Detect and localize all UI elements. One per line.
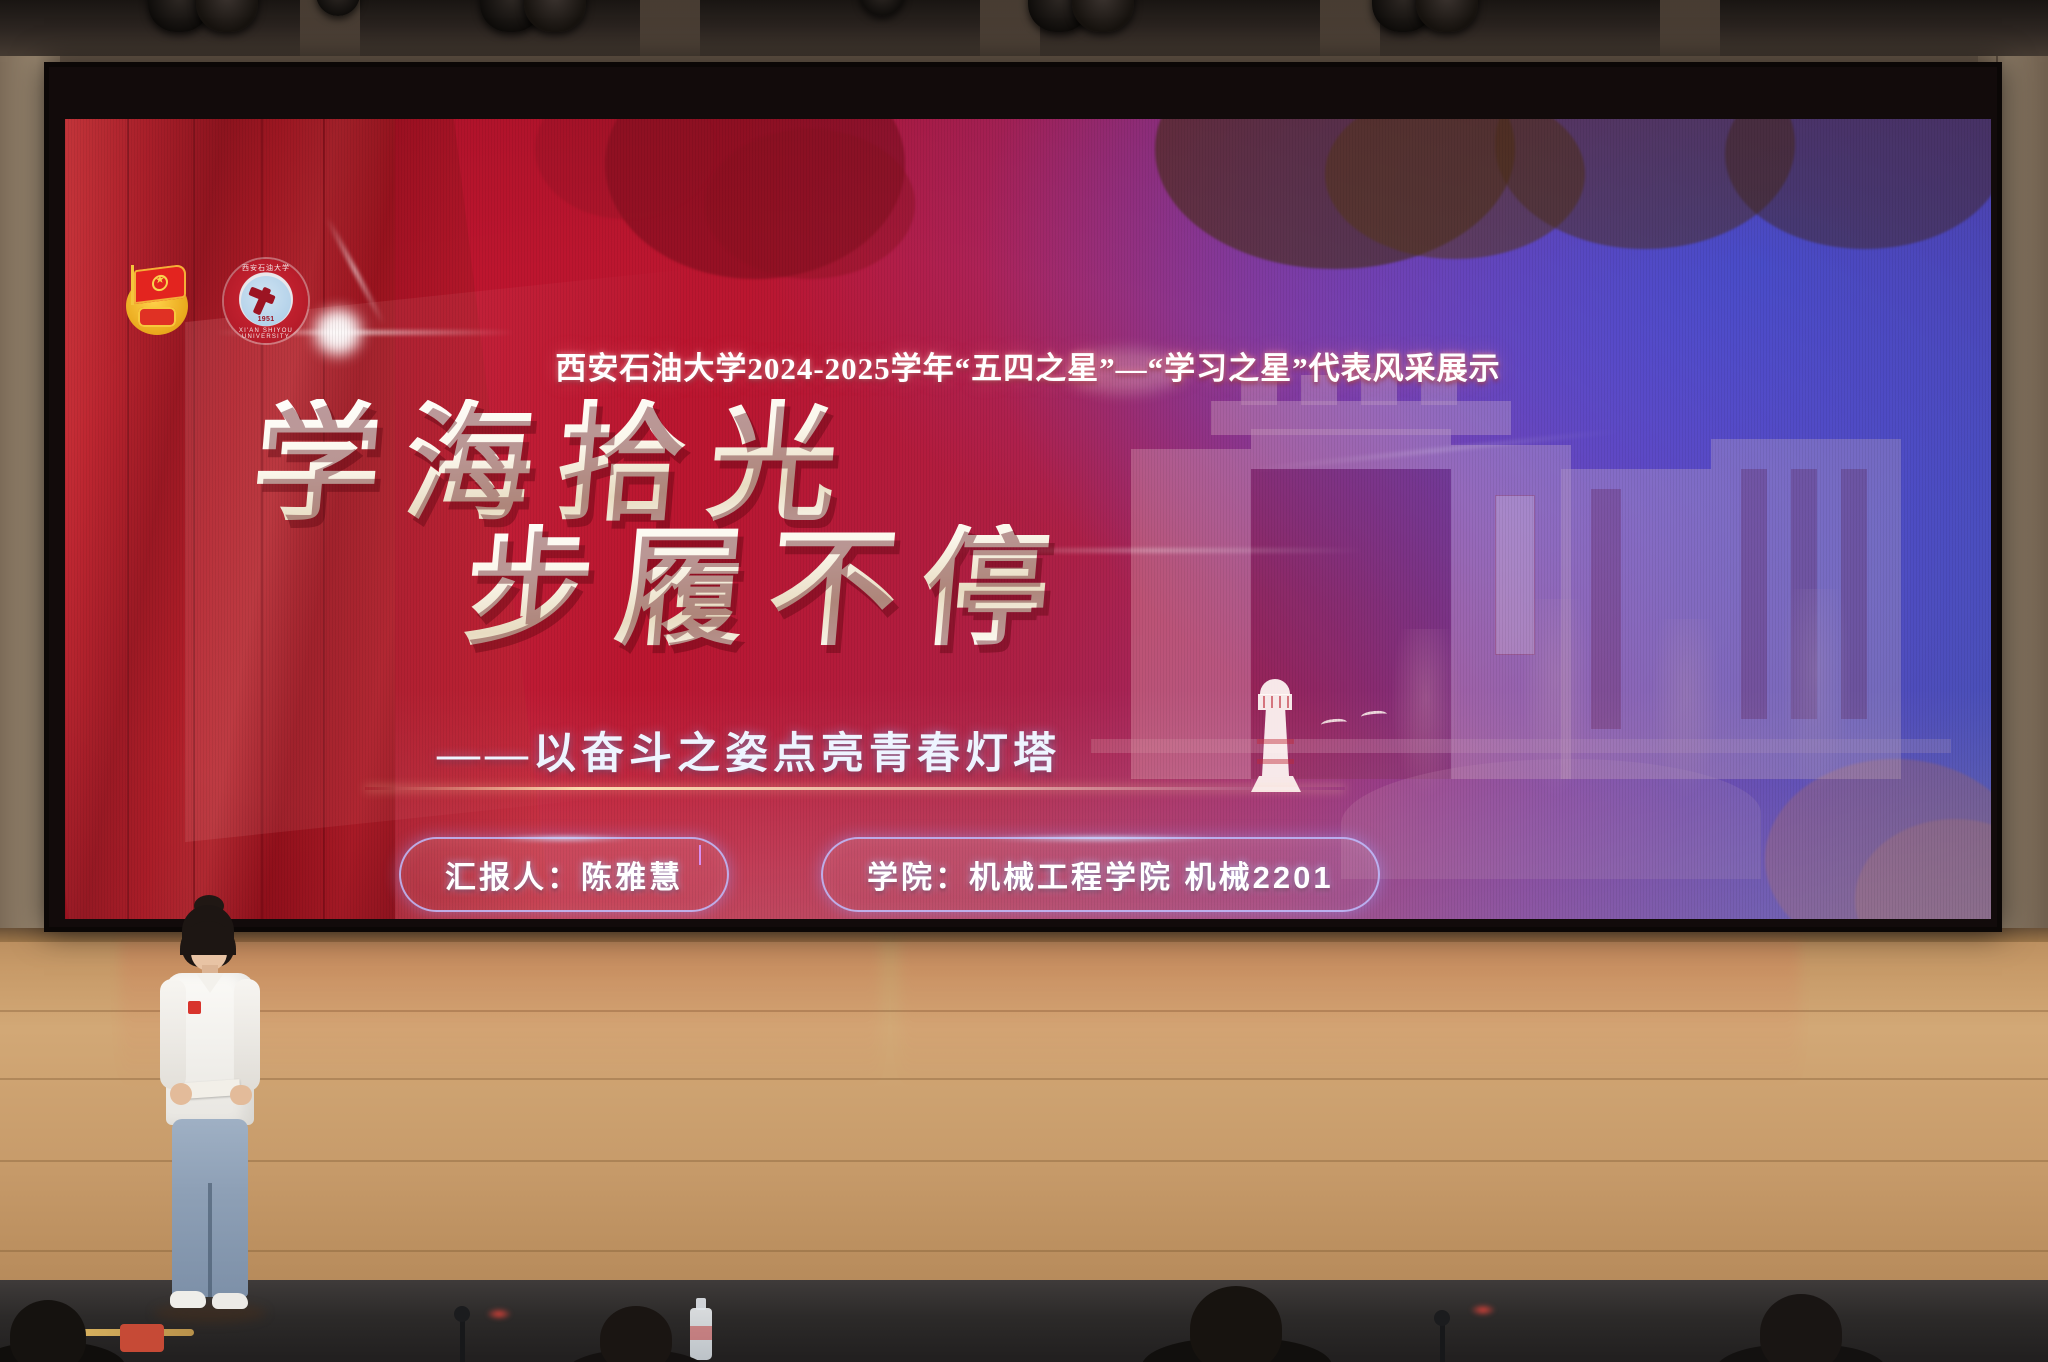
presenter-pill-label: 汇报人：陈雅慧 — [445, 860, 683, 895]
ceiling-beam — [1320, 0, 1380, 62]
communist-youth-league-emblem — [120, 263, 196, 339]
led-screen: 西安石油大学 1951 XI'AN SHIYOU UNIVERSITY 西安石油… — [65, 119, 1991, 919]
water-bottle — [690, 1308, 712, 1360]
mic-head-icon — [1434, 1310, 1450, 1326]
pill-highlight-tick — [699, 845, 701, 865]
auditorium-scene: 西安石油大学 1951 XI'AN SHIYOU UNIVERSITY 西安石油… — [0, 0, 2048, 1362]
hero-line-2: 步履不停 — [65, 524, 1271, 655]
hero-line-1: 学海拾光 — [65, 399, 1271, 530]
stage-light-marker — [1470, 1304, 1496, 1316]
seal-mark-icon — [249, 285, 283, 317]
seal-en-text: XI'AN SHIYOU UNIVERSITY — [224, 328, 308, 340]
stage-light-marker — [486, 1308, 512, 1320]
mic-stand — [1440, 1322, 1445, 1362]
audience-head-4 — [1760, 1294, 1842, 1362]
floor-equipment — [120, 1324, 164, 1352]
seal-cn-text: 西安石油大学 — [224, 263, 308, 273]
presenter-pill[interactable]: 汇报人：陈雅慧 — [399, 837, 729, 912]
presenter-jeans — [172, 1119, 248, 1297]
college-pill[interactable]: 学院：机械工程学院 机械2201 — [821, 837, 1380, 912]
audience-head-3 — [1190, 1286, 1282, 1362]
mic-stand — [460, 1318, 465, 1362]
ceiling-beam — [640, 0, 700, 62]
slide-header-title: 西安石油大学2024-2025学年“五四之星”—“学习之星”代表风采展示 — [65, 343, 1991, 388]
audience-head-1 — [10, 1300, 86, 1362]
slide-subtitle: ——以奋斗之姿点亮青春灯塔 — [65, 719, 1061, 781]
presenter-badge — [188, 1001, 201, 1014]
hero-title: 学海拾光 步履不停 — [65, 399, 1265, 654]
ceiling-beam — [1660, 0, 1720, 62]
xian-shiyou-university-seal: 西安石油大学 1951 XI'AN SHIYOU UNIVERSITY — [224, 259, 308, 343]
emblem-row: 西安石油大学 1951 XI'AN SHIYOU UNIVERSITY — [120, 259, 308, 343]
info-pill-row: 汇报人：陈雅慧 学院：机械工程学院 机械2201 — [65, 837, 1991, 912]
mic-head-icon — [454, 1306, 470, 1322]
seal-year: 1951 — [241, 316, 291, 323]
subtitle-row: ——以奋斗之姿点亮青春灯塔 — [65, 719, 1315, 781]
presenter-person — [150, 905, 270, 1335]
subtitle-divider — [365, 787, 1345, 790]
college-pill-label: 学院：机械工程学院 机械2201 — [867, 860, 1334, 895]
led-screen-frame: 西安石油大学 1951 XI'AN SHIYOU UNIVERSITY 西安石油… — [44, 62, 2002, 932]
